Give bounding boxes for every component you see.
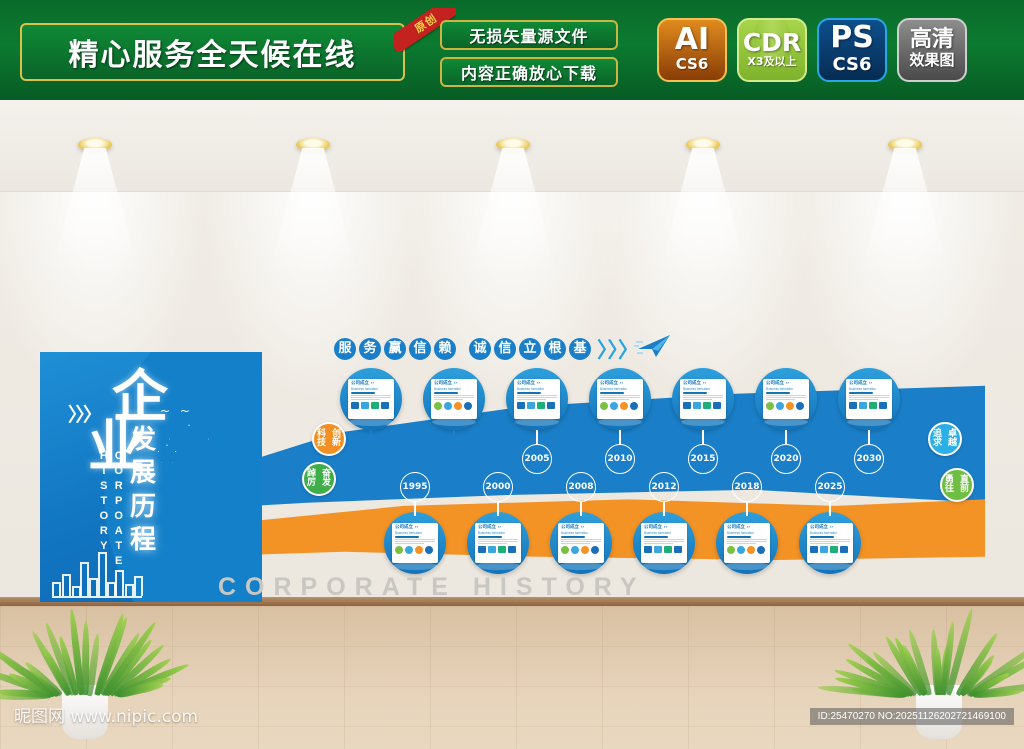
format-badge-ps-sub: CS6 <box>832 53 871 76</box>
tag-line: 追求 <box>930 430 945 449</box>
badge-icon-swatch <box>859 402 867 409</box>
badge-gloss <box>476 562 520 570</box>
badge-line <box>683 397 723 398</box>
format-badge-hd[interactable]: 高清 效果图 <box>897 18 967 82</box>
badge-line <box>766 395 806 396</box>
badge-icon-swatch <box>478 546 486 553</box>
badge-line <box>766 399 795 400</box>
badge-line <box>561 543 590 544</box>
badge-title-en: Business formation <box>351 388 391 391</box>
watermark-site: 昵图网 www.nipic.com <box>14 702 198 727</box>
birds-icon: ~ ~ <box>160 404 193 418</box>
tag-line: 创新 <box>329 430 344 449</box>
badge-bar <box>644 536 668 538</box>
badge-icon-swatch <box>581 546 589 554</box>
badge-card: 公司成立 ››Business formation <box>680 379 726 419</box>
badge-icons <box>600 402 640 410</box>
badge-bar <box>683 392 707 394</box>
badge-line <box>434 399 463 400</box>
badge-line <box>600 399 629 400</box>
badge-line <box>849 397 889 398</box>
badge-line <box>727 543 756 544</box>
badge-icons <box>849 402 889 409</box>
title-column-text: 发展历程 <box>126 424 160 557</box>
badge-line <box>644 539 684 540</box>
badge-bar <box>727 536 751 538</box>
slogan-char: 基 <box>569 338 591 360</box>
badge-line <box>766 397 806 398</box>
badge-title-en: Business formation <box>600 388 640 391</box>
badge-icon-swatch <box>747 546 755 554</box>
slogan-char: 诚 <box>469 338 491 360</box>
badge-title-cn: 公司成立 ›› <box>727 526 767 531</box>
tag-forward[interactable]: 勇往直前 <box>940 468 974 502</box>
format-badge-cdr-sub: X3及以上 <box>747 55 796 69</box>
badge-title-en: Business formation <box>683 388 723 391</box>
timeline-stem <box>536 430 538 444</box>
slogan-char: 服 <box>334 338 356 360</box>
badge-icon-swatch <box>610 402 618 410</box>
title-panel: 〉〉〉 企 业 发展历程 CORPOATE HISTORY ~ ~ <box>40 352 262 602</box>
badge-icon-swatch <box>727 546 735 554</box>
badge-icon-swatch <box>405 546 413 554</box>
promo-main-label: 精心服务全天候在线 <box>69 30 357 74</box>
promo-topbar: 精心服务全天候在线 原创 无损矢量源文件 内容正确放心下载 AI CS6 CDR… <box>0 0 1024 100</box>
tag-line: 勇往 <box>942 476 957 495</box>
badge-title-cn: 公司成立 ›› <box>517 382 557 387</box>
badge-card: 公司成立 ››Business formation <box>431 379 477 419</box>
badge-icons <box>810 546 850 553</box>
timeline-year-pin[interactable]: 2005 <box>522 444 552 474</box>
badge-icons <box>683 402 723 409</box>
badge-line <box>351 395 391 396</box>
badge-icon-swatch <box>415 546 423 554</box>
badge-bar <box>395 536 419 538</box>
badge-title-en: Business formation <box>644 532 684 535</box>
tag-line: 奋发 <box>319 470 334 489</box>
badge-line <box>810 539 850 540</box>
timeline-year-pin[interactable]: 2012 <box>649 472 679 502</box>
badge-gloss <box>764 418 808 426</box>
timeline-stem <box>663 502 665 516</box>
timeline-stem <box>497 502 499 516</box>
timeline-year-pin[interactable]: 2020 <box>771 444 801 474</box>
badge-icons <box>727 546 767 554</box>
watermark-id: ID:25470270 NO:20251126202721469100 <box>810 708 1014 725</box>
badge-icon-swatch <box>630 402 638 410</box>
timeline-badge[interactable]: 公司成立 ››Business formation <box>633 512 695 574</box>
timeline-stem <box>453 430 455 444</box>
badge-icons <box>517 402 557 409</box>
badge-gloss <box>808 562 852 570</box>
badge-gloss <box>598 418 642 426</box>
badge-line <box>478 543 507 544</box>
badge-icon-swatch <box>713 402 721 409</box>
timeline-year-pin[interactable]: 2010 <box>605 444 635 474</box>
badge-icon-swatch <box>776 402 784 410</box>
screenshot-root: 精心服务全天候在线 原创 无损矢量源文件 内容正确放心下载 AI CS6 CDR… <box>0 0 1024 749</box>
tag-tech-innovation[interactable]: 科技创新 <box>312 422 346 456</box>
badge-icon-swatch <box>591 546 599 554</box>
timeline-year-pin[interactable]: 2015 <box>688 444 718 474</box>
format-badge-cdr-main: CDR <box>743 30 801 55</box>
tag-line: 科技 <box>314 430 329 449</box>
timeline-year-pin[interactable]: 2025 <box>815 472 845 502</box>
format-badge-ai-sub: CS6 <box>676 55 709 75</box>
badge-card: 公司成立 ››Business formation <box>392 523 438 563</box>
badge-icon-swatch <box>737 546 745 554</box>
badge-title-en: Business formation <box>766 388 806 391</box>
badge-icon-swatch <box>381 402 389 409</box>
badge-icon-swatch <box>361 402 369 409</box>
badge-icon-swatch <box>488 546 496 553</box>
badge-icon-swatch <box>664 546 672 553</box>
badge-gloss <box>515 418 559 426</box>
badge-bar <box>478 536 502 538</box>
badge-gloss <box>847 418 891 426</box>
slogan-char: 赢 <box>384 338 406 360</box>
timeline-stem <box>829 502 831 516</box>
badge-line <box>517 395 557 396</box>
badge-gloss <box>349 418 393 426</box>
badge-icons <box>766 402 806 410</box>
badge-title-cn: 公司成立 ›› <box>766 382 806 387</box>
timeline-badge[interactable]: 公司成立 ››Business formation <box>384 512 446 574</box>
badge-icon-swatch <box>654 546 662 553</box>
badge-line <box>561 539 601 540</box>
timeline-year-pin[interactable]: 2000 <box>483 472 513 502</box>
badge-icon-swatch <box>693 402 701 409</box>
badge-title-cn: 公司成立 ›› <box>849 382 889 387</box>
room-scene: 〉〉〉 企 业 发展历程 CORPOATE HISTORY ~ ~ 服务赢信赖诚… <box>0 100 1024 749</box>
badge-icon-swatch <box>786 402 794 410</box>
badge-icon-swatch <box>434 402 442 410</box>
badge-icon-swatch <box>351 402 359 409</box>
badge-line <box>434 397 474 398</box>
badge-icon-swatch <box>517 402 525 409</box>
corporate-history-footer: CORPORATE HISTORY <box>218 573 646 602</box>
badge-line <box>434 395 474 396</box>
badge-gloss <box>432 418 476 426</box>
timeline-year-pin[interactable]: 2008 <box>566 472 596 502</box>
timeline-year-pin[interactable]: 2018 <box>732 472 762 502</box>
badge-icon-swatch <box>830 546 838 553</box>
badge-line <box>351 399 380 400</box>
badge-bar <box>600 392 624 394</box>
badge-icon-swatch <box>620 402 628 410</box>
badge-card: 公司成立 ››Business formation <box>475 523 521 563</box>
timeline-badge[interactable]: 公司成立 ››Business formation <box>506 368 568 430</box>
badge-icon-swatch <box>508 546 516 553</box>
badge-bar <box>561 536 585 538</box>
badge-title-cn: 公司成立 ›› <box>561 526 601 531</box>
slogan-banner: 服务赢信赖诚信立根基 〉〉〉 <box>334 336 674 362</box>
slogan-char: 赖 <box>434 338 456 360</box>
timeline-badge[interactable]: 公司成立 ››Business formation <box>589 368 651 430</box>
badge-icons <box>478 546 518 553</box>
badge-icon-swatch <box>796 402 804 410</box>
badge-line <box>600 395 640 396</box>
timeline-stem <box>619 430 621 444</box>
format-badge-ai-main: AI <box>675 25 709 55</box>
badge-line <box>517 399 546 400</box>
badge-icon-swatch <box>849 402 857 409</box>
format-badge-cdr[interactable]: CDR X3及以上 <box>737 18 807 82</box>
badge-icons <box>395 546 435 554</box>
badge-card: 公司成立 ››Business formation <box>641 523 687 563</box>
badge-icon-swatch <box>840 546 848 553</box>
badge-icon-swatch <box>674 546 682 553</box>
badge-bar <box>810 536 834 538</box>
badge-line <box>644 543 673 544</box>
timeline-stem <box>868 430 870 444</box>
badge-icon-swatch <box>371 402 379 409</box>
badge-line <box>351 397 391 398</box>
timeline-badge[interactable]: 公司成立 ››Business formation <box>672 368 734 430</box>
badge-gloss <box>642 562 686 570</box>
badge-bar <box>517 392 541 394</box>
badge-icon-swatch <box>547 402 555 409</box>
badge-icons <box>434 402 474 410</box>
timeline-badge[interactable]: 公司成立 ››Business formation <box>550 512 612 574</box>
badge-icon-swatch <box>810 546 818 553</box>
promo-vector-file[interactable]: 无损矢量源文件 <box>440 20 618 50</box>
badge-gloss <box>393 562 437 570</box>
badge-card: 公司成立 ››Business formation <box>514 379 560 419</box>
slogan-char: 根 <box>544 338 566 360</box>
badge-icon-swatch <box>879 402 887 409</box>
badge-gloss <box>681 418 725 426</box>
banner-arrows: 〉〉〉 <box>597 334 639 364</box>
badge-icon-swatch <box>537 402 545 409</box>
badge-line <box>395 539 435 540</box>
badge-title-en: Business formation <box>434 388 474 391</box>
promo-safe-download-label: 内容正确放心下载 <box>461 60 597 84</box>
badge-icon-swatch <box>683 402 691 409</box>
timeline-year-pin[interactable]: 1995 <box>400 472 430 502</box>
badge-icon-swatch <box>464 402 472 410</box>
badge-card: 公司成立 ››Business formation <box>807 523 853 563</box>
badge-title-cn: 公司成立 ›› <box>600 382 640 387</box>
badge-bar <box>434 392 458 394</box>
badge-card: 公司成立 ››Business formation <box>597 379 643 419</box>
slogan-characters: 服务赢信赖诚信立根基 <box>334 338 594 360</box>
badge-line <box>395 543 424 544</box>
slogan-char: 信 <box>409 338 431 360</box>
format-badge-ai[interactable]: AI CS6 <box>657 18 727 82</box>
timeline-badge[interactable]: 公司成立 ››Business formation <box>799 512 861 574</box>
badge-line <box>727 539 767 540</box>
badge-title-en: Business formation <box>810 532 850 535</box>
badge-line <box>561 541 601 542</box>
badge-card: 公司成立 ››Business formation <box>846 379 892 419</box>
star-small-icon <box>157 444 177 464</box>
badge-gloss <box>725 562 769 570</box>
badge-card: 公司成立 ››Business formation <box>724 523 770 563</box>
badge-line <box>849 399 878 400</box>
badge-icon-swatch <box>395 546 403 554</box>
paper-plane-icon <box>634 333 674 359</box>
tag-line: 直前 <box>957 476 972 495</box>
timeline-badge[interactable]: 公司成立 ››Business formation <box>716 512 778 574</box>
badge-icon-swatch <box>498 546 506 553</box>
badge-line <box>727 541 767 542</box>
badge-line <box>644 541 684 542</box>
badge-title-en: Business formation <box>561 532 601 535</box>
badge-icon-swatch <box>757 546 765 554</box>
badge-title-en: Business formation <box>727 532 767 535</box>
badge-icon-swatch <box>644 546 652 553</box>
badge-line <box>810 543 839 544</box>
badge-line <box>600 397 640 398</box>
badge-card: 公司成立 ››Business formation <box>348 379 394 419</box>
promo-main-banner[interactable]: 精心服务全天候在线 <box>20 23 405 81</box>
badge-icon-swatch <box>444 402 452 410</box>
tag-vigor[interactable]: 踔厉奋发 <box>302 462 336 496</box>
badge-title-en: Business formation <box>395 532 435 535</box>
badge-title-cn: 公司成立 ›› <box>478 526 518 531</box>
timeline-stem <box>702 430 704 444</box>
timeline-year-pin[interactable]: 1990 <box>356 444 386 474</box>
format-badge-hd-sub: 效果图 <box>909 51 954 71</box>
timeline-stem <box>414 502 416 516</box>
badge-icon-swatch <box>561 546 569 554</box>
format-badge-ps-main: PS <box>830 23 874 53</box>
badge-icon-swatch <box>454 402 462 410</box>
badge-line <box>683 395 723 396</box>
slogan-char: 立 <box>519 338 541 360</box>
badge-card: 公司成立 ››Business formation <box>558 523 604 563</box>
badge-line <box>683 399 712 400</box>
timeline-year-pin[interactable]: 1998 <box>439 444 469 474</box>
badge-gloss <box>559 562 603 570</box>
badge-title-cn: 公司成立 ›› <box>644 526 684 531</box>
tag-line: 卓越 <box>945 430 960 449</box>
badge-title-cn: 公司成立 ›› <box>683 382 723 387</box>
timeline-badge[interactable]: 公司成立 ››Business formation <box>423 368 485 430</box>
promo-vector-file-label: 无损矢量源文件 <box>469 23 588 47</box>
slogan-char: 务 <box>359 338 381 360</box>
badge-icon-swatch <box>869 402 877 409</box>
badge-title-cn: 公司成立 ›› <box>810 526 850 531</box>
timeline-stem <box>580 502 582 516</box>
badge-title-en: Business formation <box>849 388 889 391</box>
badge-icon-swatch <box>600 402 608 410</box>
badge-card: 公司成立 ››Business formation <box>763 379 809 419</box>
badge-icon-swatch <box>820 546 828 553</box>
timeline-stem <box>746 502 748 516</box>
timeline-stem <box>785 430 787 444</box>
badge-line <box>395 541 435 542</box>
slogan-char: 信 <box>494 338 516 360</box>
badge-title-en: Business formation <box>517 388 557 391</box>
badge-icon-swatch <box>766 402 774 410</box>
badge-bar <box>351 392 375 394</box>
badge-icon-swatch <box>527 402 535 409</box>
badge-title-cn: 公司成立 ›› <box>434 382 474 387</box>
badge-title-en: Business formation <box>478 532 518 535</box>
timeline-year-pin[interactable]: 2030 <box>854 444 884 474</box>
badge-line <box>849 395 889 396</box>
format-badge-ps[interactable]: PS CS6 <box>817 18 887 82</box>
badge-line <box>517 397 557 398</box>
badge-title-cn: 公司成立 ›› <box>351 382 391 387</box>
badge-line <box>478 539 518 540</box>
timeline-badge[interactable]: 公司成立 ››Business formation <box>838 368 900 430</box>
format-badge-hd-main: 高清 <box>910 29 954 51</box>
badge-line <box>478 541 518 542</box>
timeline-badge[interactable]: 公司成立 ››Business formation <box>755 368 817 430</box>
badge-icon-swatch <box>703 402 711 409</box>
badge-icon-swatch <box>425 546 433 554</box>
timeline-badge[interactable]: 公司成立 ››Business formation <box>340 368 402 430</box>
badge-title-cn: 公司成立 ›› <box>395 526 435 531</box>
badge-line <box>810 541 850 542</box>
tag-excellence[interactable]: 追求卓越 <box>928 422 962 456</box>
badge-bar <box>849 392 873 394</box>
timeline-stem <box>370 430 372 444</box>
badge-icons <box>644 546 684 553</box>
badge-icon-swatch <box>571 546 579 554</box>
badge-icons <box>351 402 391 409</box>
star-large-icon <box>168 424 210 466</box>
badge-icons <box>561 546 601 554</box>
timeline-badge[interactable]: 公司成立 ››Business formation <box>467 512 529 574</box>
badge-bar <box>766 392 790 394</box>
promo-safe-download[interactable]: 内容正确放心下载 <box>440 57 618 87</box>
culture-wall-graphic: 〉〉〉 企 业 发展历程 CORPOATE HISTORY ~ ~ 服务赢信赖诚… <box>40 240 985 615</box>
tag-line: 踔厉 <box>304 470 319 489</box>
